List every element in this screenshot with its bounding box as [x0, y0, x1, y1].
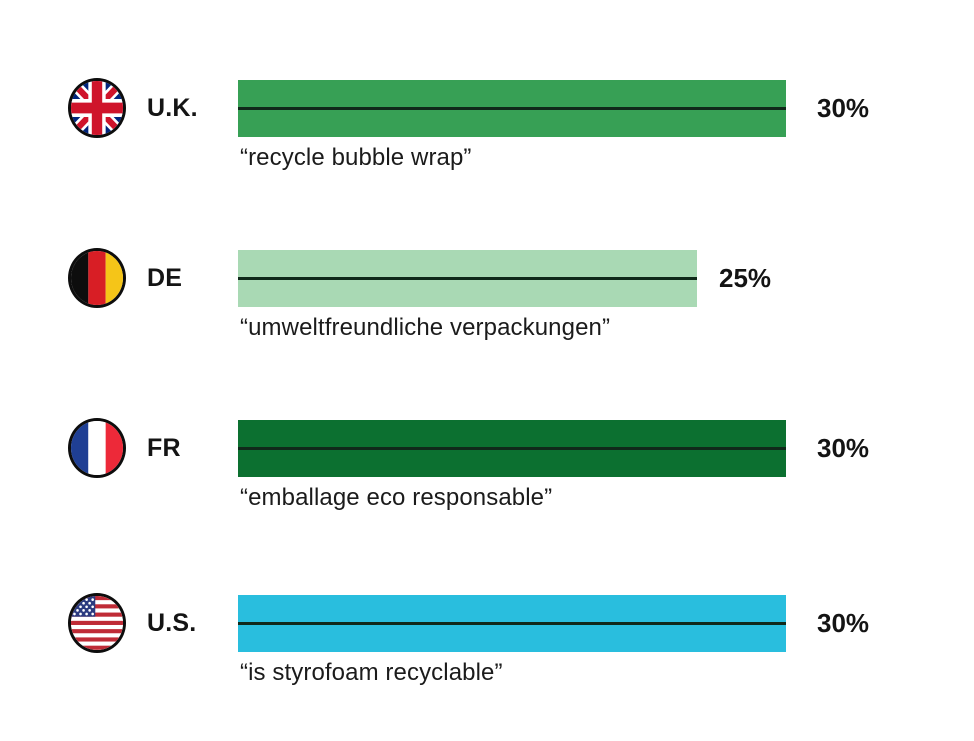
value-label-de: 25% — [719, 250, 771, 307]
flag-us-icon — [68, 593, 126, 653]
country-label-fr: FR — [147, 418, 181, 478]
chart-row-uk: U.K. 30% “recycle bubble wrap” — [0, 58, 974, 178]
caption-de: “umweltfreundliche verpackungen” — [240, 314, 610, 342]
caption-uk: “recycle bubble wrap” — [240, 144, 472, 172]
value-label-us: 30% — [817, 595, 869, 652]
bar-uk — [238, 80, 786, 137]
bar-fr — [238, 420, 786, 477]
bar-midline — [238, 277, 697, 280]
country-label-uk: U.K. — [147, 78, 198, 138]
flag-fr-icon — [68, 418, 126, 478]
bar-midline — [238, 447, 786, 450]
caption-fr: “emballage eco responsable” — [240, 484, 552, 512]
bar-midline — [238, 622, 786, 625]
search-term-interest-chart: U.K. 30% “recycle bubble wrap” DE 25% “u… — [0, 0, 974, 741]
country-label-us: U.S. — [147, 593, 196, 653]
bar-de — [238, 250, 697, 307]
value-label-uk: 30% — [817, 80, 869, 137]
chart-row-de: DE 25% “umweltfreundliche verpackungen” — [0, 228, 974, 348]
flag-uk-icon — [68, 78, 126, 138]
bar-fill-us — [238, 595, 786, 652]
chart-row-fr: FR 30% “emballage eco responsable” — [0, 398, 974, 518]
bar-fill-de — [238, 250, 697, 307]
bar-fill-uk — [238, 80, 786, 137]
caption-us: “is styrofoam recyclable” — [240, 659, 503, 687]
chart-row-us: U.S. 30% “is styrofoam recyclable” — [0, 573, 974, 693]
bar-fill-fr — [238, 420, 786, 477]
value-label-fr: 30% — [817, 420, 869, 477]
flag-de-icon — [68, 248, 126, 308]
country-label-de: DE — [147, 248, 182, 308]
bar-us — [238, 595, 786, 652]
bar-midline — [238, 107, 786, 110]
